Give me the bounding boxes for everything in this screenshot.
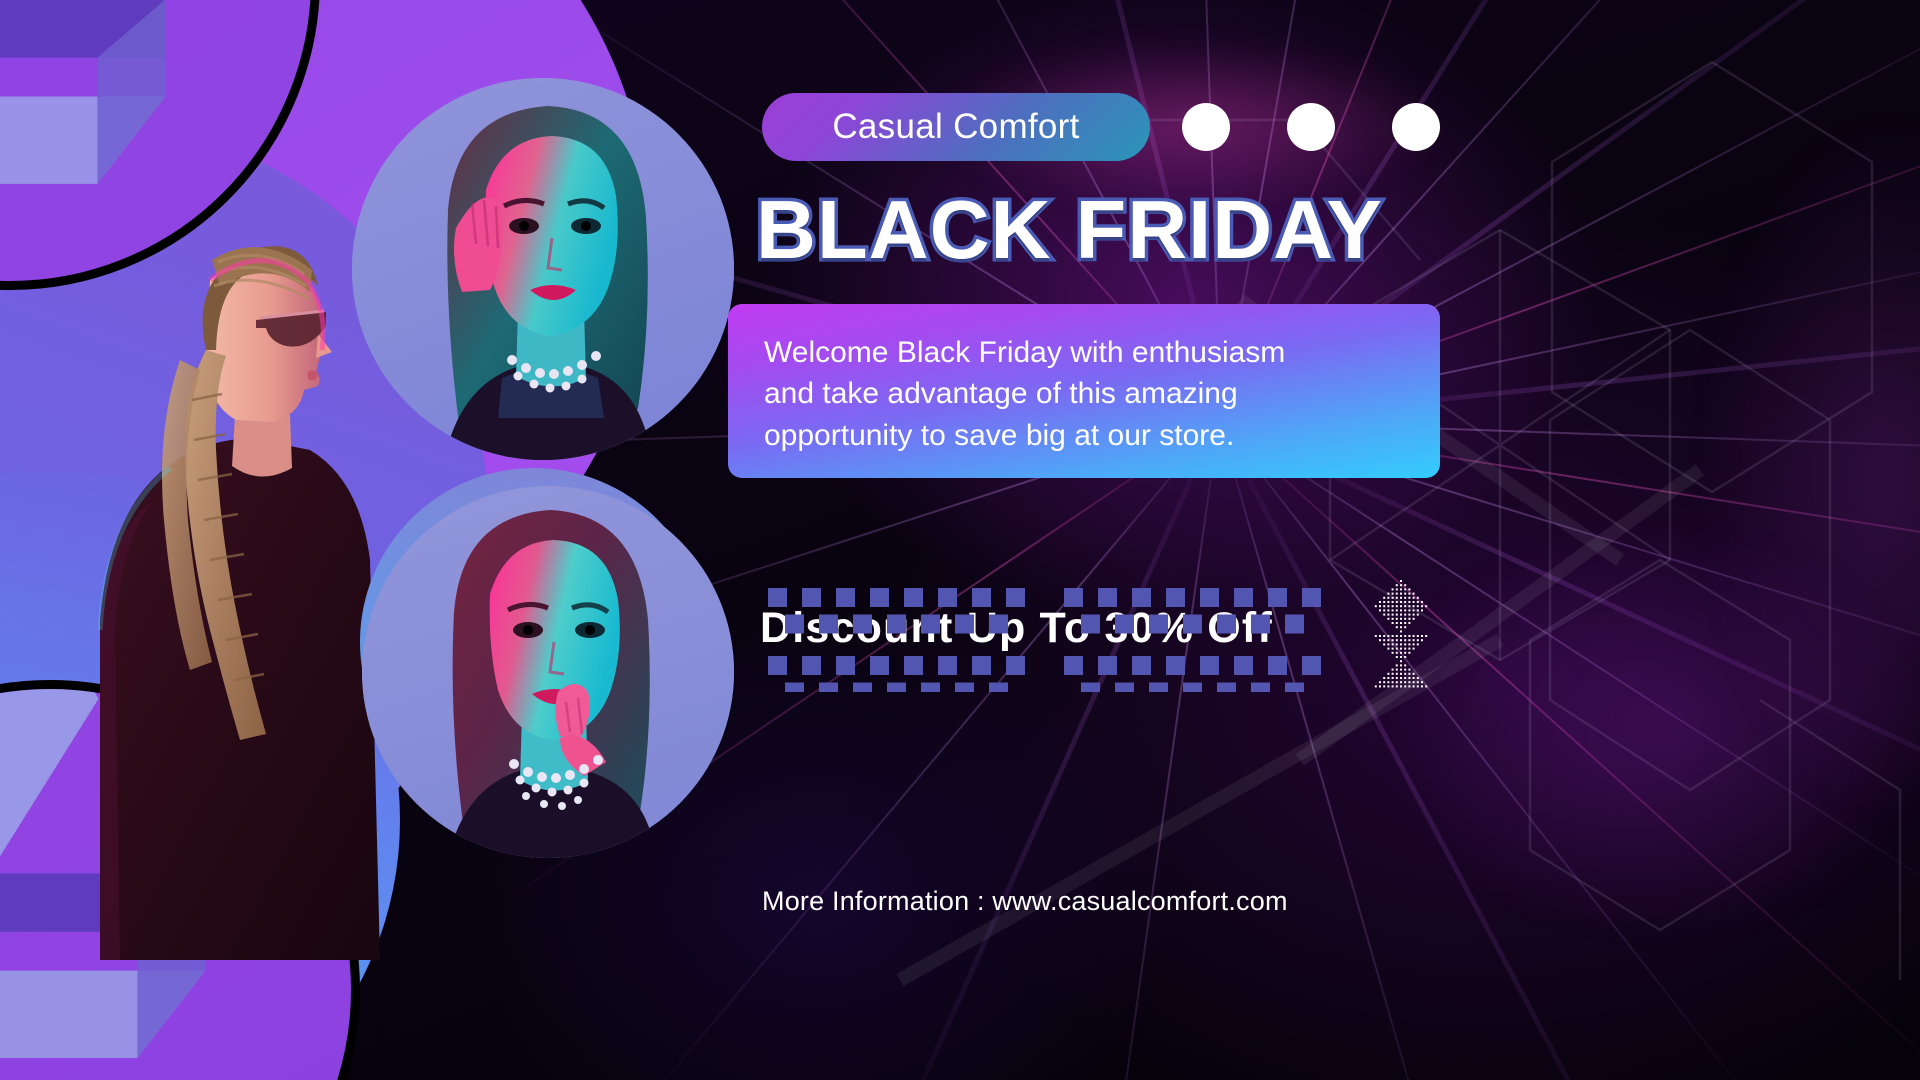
checkerboard-left <box>768 588 1040 692</box>
promo-line-3: opportunity to save big at our store. <box>764 415 1384 456</box>
promo-line-2: and take advantage of this amazing <box>764 373 1384 414</box>
white-dot-2 <box>1287 103 1335 151</box>
checkerboard-right <box>1064 588 1336 692</box>
banner-canvas: Casual Comfort BLACK FRIDAY Welcome Blac… <box>0 0 1920 1080</box>
photo-model-bottom <box>362 486 734 858</box>
brand-badge[interactable]: Casual Comfort <box>762 93 1150 161</box>
photo-model-top <box>352 78 734 460</box>
promo-line-1: Welcome Black Friday with enthusiasm <box>764 332 1384 373</box>
brand-badge-label: Casual Comfort <box>832 107 1079 147</box>
decor-dots-group <box>1182 103 1440 153</box>
page-title: BLACK FRIDAY <box>756 188 1446 271</box>
promo-body-text: Welcome Black Friday with enthusiasm and… <box>764 332 1384 456</box>
promo-panel: Welcome Black Friday with enthusiasm and… <box>728 304 1440 478</box>
white-dot-1 <box>1182 103 1230 151</box>
footer-more-info: More Information : www.casualcomfort.com <box>762 886 1462 917</box>
dotted-hourglass-icon <box>1366 578 1436 688</box>
white-dot-3 <box>1392 103 1440 151</box>
